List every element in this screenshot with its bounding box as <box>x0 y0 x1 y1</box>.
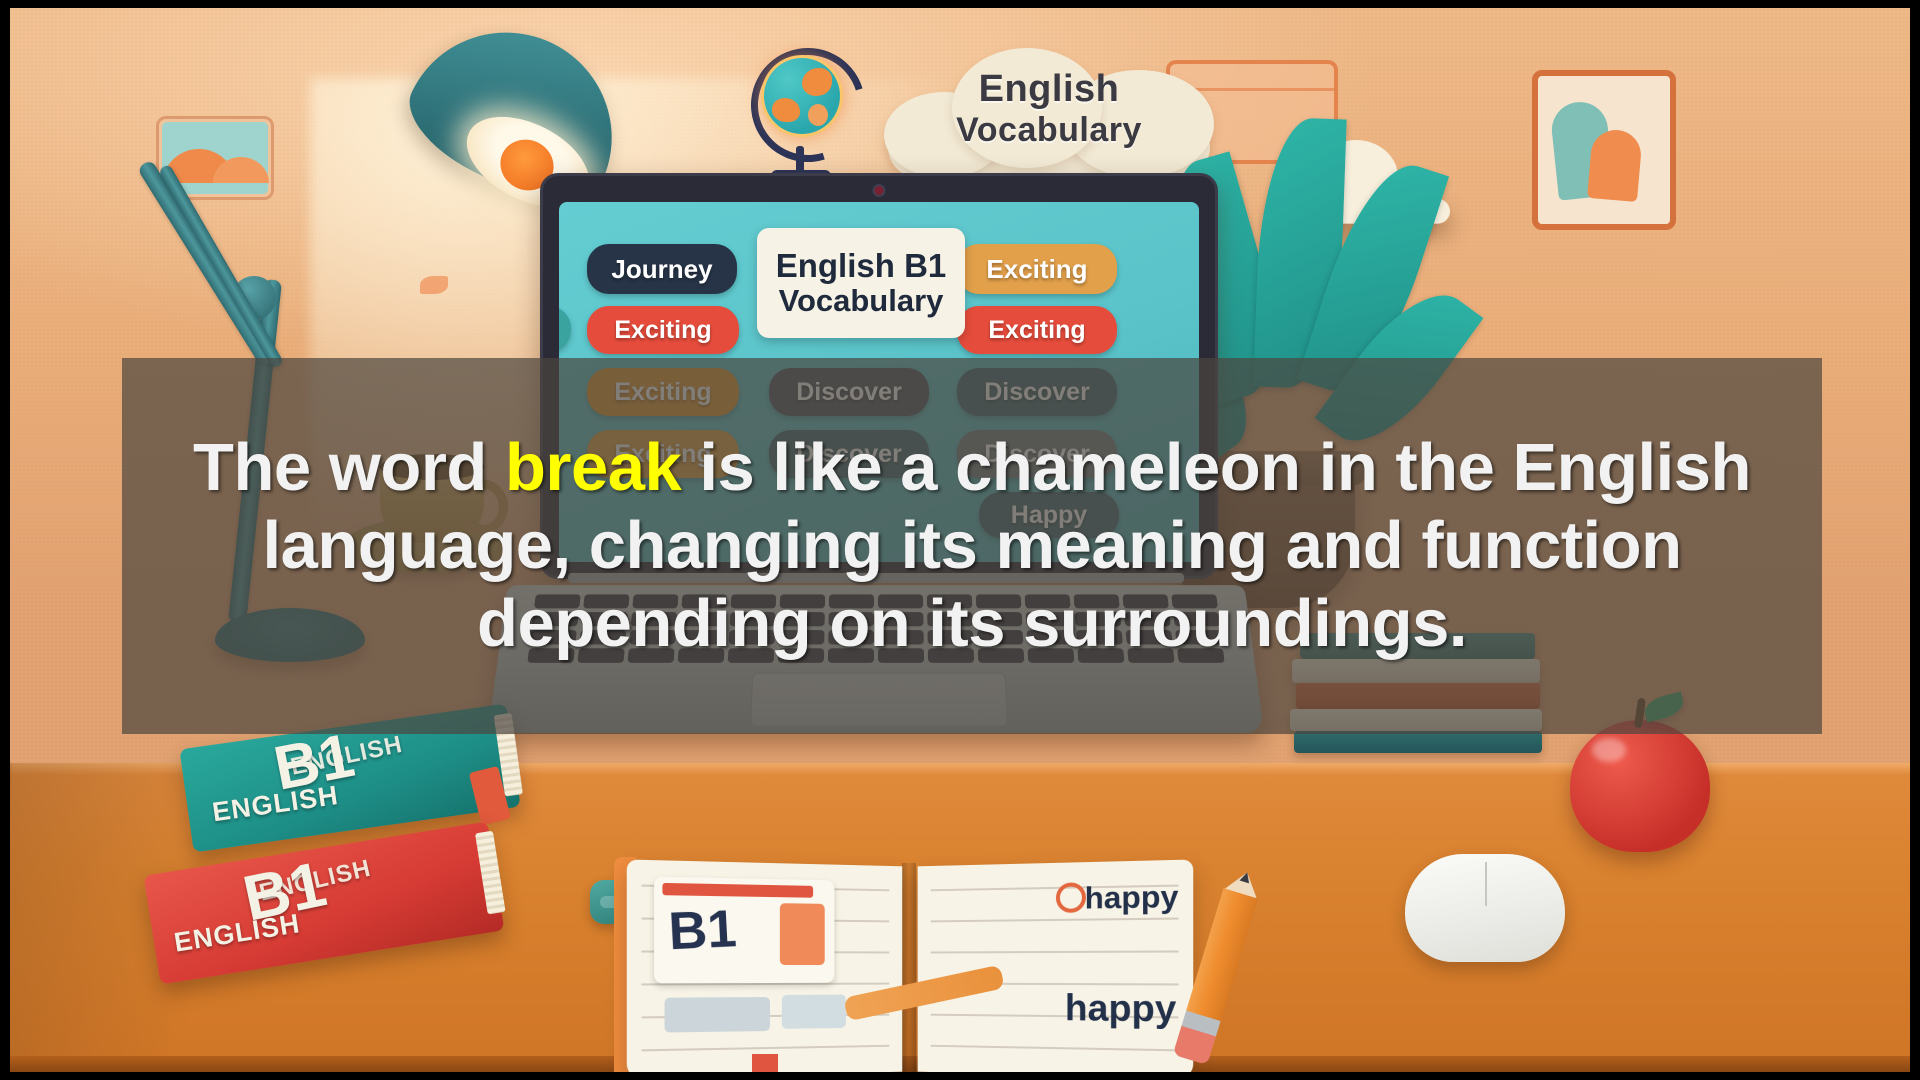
sign-line-1: English <box>884 68 1214 111</box>
screen-title-line-2: Vocabulary <box>779 284 944 318</box>
apple-highlight <box>1592 738 1626 762</box>
screen-pill-journey[interactable]: Journey <box>587 244 737 294</box>
notebook-level-card: B1 <box>654 877 834 984</box>
notebook-right-page: happy happy <box>918 859 1194 1072</box>
globe-landmass-3 <box>808 104 828 126</box>
caption-text: The word break is like a chameleon in th… <box>142 429 1802 662</box>
notebook-word-bottom: happy <box>1065 987 1176 1031</box>
screen-pill-offscreen[interactable]: Excing <box>559 306 571 352</box>
globe-landmass-1 <box>802 68 832 96</box>
sign-text-block: English Vocabulary <box>884 68 1214 149</box>
notebook-left-page: B1 <box>627 859 903 1072</box>
apple <box>1570 720 1710 852</box>
notebook-card-header <box>662 883 813 898</box>
mouse-button-split <box>1485 862 1487 906</box>
book-teal-spine-text: ENGLISH <box>210 780 340 828</box>
stacked-book-5 <box>1294 731 1542 753</box>
screen-pill-exciting-right-2[interactable]: Exciting <box>957 306 1117 354</box>
wall-cloud-sign: English Vocabulary <box>884 48 1214 178</box>
notebook-card-accent <box>780 903 825 965</box>
screen-title-line-1: English B1 <box>776 248 947 284</box>
illustration-canvas: English Vocabulary <box>10 8 1910 1072</box>
screen-title-card: English B1 Vocabulary <box>757 228 965 338</box>
book-red-spine-text: ENGLISH <box>172 908 302 958</box>
webcam-icon <box>875 186 884 195</box>
open-notebook: B1 happy happy <box>630 863 1190 1072</box>
notebook-rule <box>931 918 1179 923</box>
notebook-level-text: B1 <box>667 899 738 963</box>
notebook-bullet-icon <box>1056 882 1086 913</box>
notebook-rule <box>931 1045 1179 1052</box>
caption-highlight-word: break <box>505 430 681 505</box>
sign-line-2: Vocabulary <box>884 111 1214 149</box>
notebook-chip-1 <box>665 997 770 1033</box>
screen-pill-exciting-1[interactable]: Exciting <box>587 306 739 354</box>
wall-doodle-1 <box>420 276 448 294</box>
wall-picture-frame-right <box>1532 70 1676 230</box>
notebook-chip-2 <box>782 995 846 1029</box>
globe-icon <box>745 42 857 190</box>
computer-mouse[interactable] <box>1405 854 1565 962</box>
notebook-bookmark <box>752 1054 778 1072</box>
notebook-rule <box>931 950 1179 953</box>
notebook-spine <box>902 863 916 1072</box>
video-frame-stage: English Vocabulary <box>0 0 1920 1080</box>
caption-overlay: The word break is like a chameleon in th… <box>122 358 1822 734</box>
caption-text-before: The word <box>193 430 505 505</box>
screen-pill-exciting-right-1[interactable]: Exciting <box>957 244 1117 294</box>
globe-sphere <box>764 58 840 134</box>
notebook-rule <box>642 1045 890 1052</box>
notebook-word-top: happy <box>1085 878 1179 916</box>
picture-shape-b <box>1587 128 1643 202</box>
globe-landmass-2 <box>772 98 800 122</box>
